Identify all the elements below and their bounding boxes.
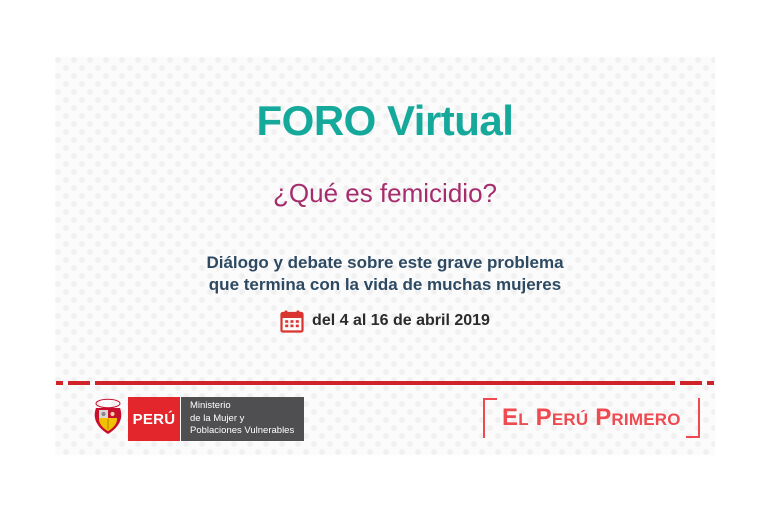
divider-dash xyxy=(68,381,90,385)
ministry-logo: PERÚ Ministerio de la Mujer y Poblacione… xyxy=(88,397,304,441)
peru-country-label: PERÚ xyxy=(128,397,180,441)
divider-dash xyxy=(680,381,702,385)
calendar-icon xyxy=(280,309,304,333)
peru-coat-of-arms-icon xyxy=(88,397,128,441)
peru-primero-logo: El Perú Primero xyxy=(483,398,700,438)
page-subtitle: ¿Qué es femicidio? xyxy=(0,180,770,206)
event-date-label: del 4 al 16 de abril 2019 xyxy=(312,313,490,329)
bracket-right-decoration xyxy=(686,398,700,438)
ministry-name-line-3: Poblaciones Vulnerables xyxy=(190,425,294,438)
ministry-name-line-2: de la Mujer y xyxy=(190,413,294,426)
date-row: del 4 al 16 de abril 2019 xyxy=(0,309,770,333)
bracket-left-decoration xyxy=(483,398,497,438)
description-line-2: que termina con la vida de muchas mujere… xyxy=(0,274,770,296)
description-line-1: Diálogo y debate sobre este grave proble… xyxy=(0,252,770,274)
peru-primero-slogan: El Perú Primero xyxy=(497,406,686,430)
divider-dash xyxy=(707,381,714,385)
divider-dash xyxy=(56,381,63,385)
poster-canvas: FORO Virtual ¿Qué es femicidio? Diálogo … xyxy=(0,0,770,515)
page-title: FORO Virtual xyxy=(0,100,770,142)
divider-rule xyxy=(95,381,675,385)
footer: PERÚ Ministerio de la Mujer y Poblacione… xyxy=(0,393,770,455)
ministry-name-block: Ministerio de la Mujer y Poblaciones Vul… xyxy=(180,397,304,441)
description-text: Diálogo y debate sobre este grave proble… xyxy=(0,252,770,297)
dashed-divider xyxy=(56,381,714,385)
ministry-name-line-1: Ministerio xyxy=(190,400,294,413)
